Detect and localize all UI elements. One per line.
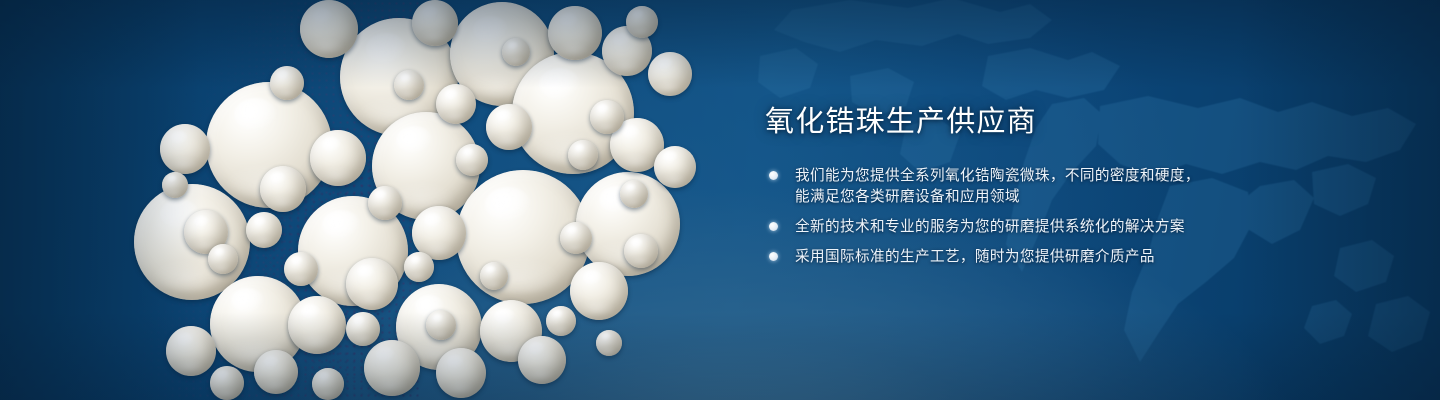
list-item-line: 能满足您各类研磨设备和应用领域 [795,186,1235,207]
feature-list: 我们能为您提供全系列氧化锆陶瓷微珠，不同的密度和硬度， 能满足您各类研磨设备和应… [765,165,1235,267]
list-item-line: 采用国际标准的生产工艺，随时为您提供研磨介质产品 [795,246,1235,267]
bullet-dot-icon [769,171,778,180]
list-item: 采用国际标准的生产工艺，随时为您提供研磨介质产品 [765,246,1235,267]
page-title: 氧化锆珠生产供应商 [765,104,1235,139]
banner-copy: 氧化锆珠生产供应商 我们能为您提供全系列氧化锆陶瓷微珠，不同的密度和硬度， 能满… [765,104,1235,267]
list-item: 全新的技术和专业的服务为您的研磨提供系统化的解决方案 [765,216,1235,237]
list-item-line: 我们能为您提供全系列氧化锆陶瓷微珠，不同的密度和硬度， [795,165,1235,186]
hero-banner: 氧化锆珠生产供应商 我们能为您提供全系列氧化锆陶瓷微珠，不同的密度和硬度， 能满… [0,0,1440,400]
bullet-dot-icon [769,252,778,261]
bullet-dot-icon [769,222,778,231]
list-item: 我们能为您提供全系列氧化锆陶瓷微珠，不同的密度和硬度， 能满足您各类研磨设备和应… [765,165,1235,207]
list-item-line: 全新的技术和专业的服务为您的研磨提供系统化的解决方案 [795,216,1235,237]
